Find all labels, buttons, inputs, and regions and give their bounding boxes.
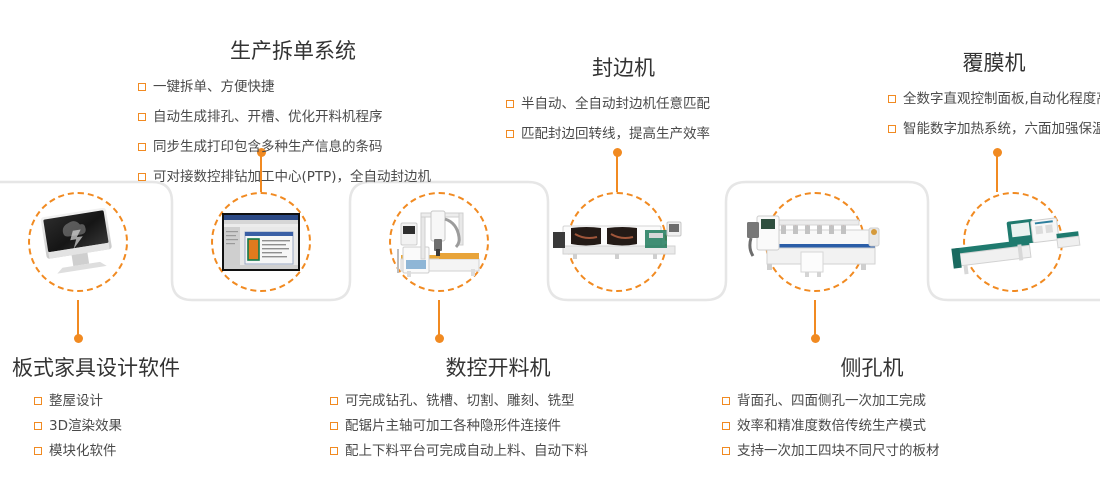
node-dismantle[interactable] (211, 192, 311, 292)
feature-item: 智能数字加热系统，六面加强保温 (888, 114, 1100, 144)
feature-list-edgebander: 半自动、全自动封边机任意匹配 匹配封边回转线，提高生产效率 (506, 89, 741, 149)
infographic-canvas: 生产拆单系统 一键拆单、方便快捷 自动生成排孔、开槽、优化开料机程序 同步生成打… (0, 0, 1100, 495)
feature-item: 可对接数控排钻加工中心(PTP)，全自动封边机 (138, 162, 448, 192)
feature-item: 模块化软件 (34, 439, 180, 464)
section-dismantle: 生产拆单系统 一键拆单、方便快捷 自动生成排孔、开槽、优化开料机程序 同步生成打… (138, 38, 448, 192)
node-edgebander[interactable] (567, 192, 667, 292)
section-title-dismantle: 生产拆单系统 (138, 38, 448, 64)
feature-list-design-software: 整屋设计 3D渲染效果 模块化软件 (12, 389, 180, 464)
section-title-laminator: 覆膜机 (888, 50, 1100, 76)
stem-dot-design-software (74, 334, 83, 343)
dashed-ring (211, 192, 311, 292)
feature-item: 自动生成排孔、开槽、优化开料机程序 (138, 102, 448, 132)
feature-item: 3D渲染效果 (34, 414, 180, 439)
checkbox-icon (138, 143, 146, 151)
stem-dot-side-driller (811, 334, 820, 343)
feature-item: 配锯片主轴可加工各种隐形件连接件 (330, 414, 666, 439)
feature-list-cnc-cutter: 可完成钻孔、铣槽、切割、雕刻、铣型 配锯片主轴可加工各种隐形件连接件 配上下料平… (330, 389, 666, 464)
feature-item: 半自动、全自动封边机任意匹配 (506, 89, 741, 119)
checkbox-icon (506, 130, 514, 138)
node-side-driller[interactable] (765, 192, 865, 292)
node-laminator[interactable] (963, 192, 1063, 292)
section-laminator: 覆膜机 全数字直观控制面板,自动化程度高 智能数字加热系统，六面加强保温 (888, 50, 1100, 144)
feature-item: 匹配封边回转线，提高生产效率 (506, 119, 741, 149)
section-title-side-driller: 侧孔机 (722, 355, 1022, 381)
dashed-ring (963, 192, 1063, 292)
checkbox-icon (722, 447, 730, 455)
stem-dot-laminator (993, 148, 1002, 157)
section-edgebander: 封边机 半自动、全自动封边机任意匹配 匹配封边回转线，提高生产效率 (506, 55, 741, 149)
dashed-ring (28, 192, 128, 292)
section-cnc-cutter: 数控开料机 可完成钻孔、铣槽、切割、雕刻、铣型 配锯片主轴可加工各种隐形件连接件… (330, 355, 666, 464)
checkbox-icon (330, 422, 338, 430)
checkbox-icon (34, 422, 42, 430)
checkbox-icon (888, 95, 896, 103)
section-title-edgebander: 封边机 (506, 55, 741, 81)
checkbox-icon (506, 100, 514, 108)
checkbox-icon (138, 113, 146, 121)
checkbox-icon (34, 397, 42, 405)
feature-item: 一键拆单、方便快捷 (138, 72, 448, 102)
section-title-cnc-cutter: 数控开料机 (330, 355, 666, 381)
feature-item: 配上下料平台可完成自动上料、自动下料 (330, 439, 666, 464)
feature-item: 同步生成打印包含多种生产信息的条码 (138, 132, 448, 162)
checkbox-icon (138, 83, 146, 91)
stem-laminator (996, 152, 998, 192)
checkbox-icon (722, 397, 730, 405)
feature-item: 全数字直观控制面板,自动化程度高 (888, 84, 1100, 114)
feature-item: 整屋设计 (34, 389, 180, 414)
stem-dot-edgebander (613, 148, 622, 157)
stem-design-software (77, 300, 79, 338)
feature-item: 可完成钻孔、铣槽、切割、雕刻、铣型 (330, 389, 666, 414)
section-side-driller: 侧孔机 背面孔、四面侧孔一次加工完成 效率和精准度数倍传统生产模式 支持一次加工… (722, 355, 1022, 464)
node-design-software[interactable] (28, 192, 128, 292)
checkbox-icon (722, 422, 730, 430)
stem-side-driller (814, 300, 816, 338)
feature-list-dismantle: 一键拆单、方便快捷 自动生成排孔、开槽、优化开料机程序 同步生成打印包含多种生产… (138, 72, 448, 192)
section-design-software: 板式家具设计软件 整屋设计 3D渲染效果 模块化软件 (12, 355, 180, 464)
checkbox-icon (330, 397, 338, 405)
stem-edgebander (616, 152, 618, 192)
checkbox-icon (34, 447, 42, 455)
checkbox-icon (888, 125, 896, 133)
node-cnc-cutter[interactable] (389, 192, 489, 292)
checkbox-icon (138, 173, 146, 181)
checkbox-icon (330, 447, 338, 455)
feature-item: 效率和精准度数倍传统生产模式 (722, 414, 1022, 439)
feature-list-side-driller: 背面孔、四面侧孔一次加工完成 效率和精准度数倍传统生产模式 支持一次加工四块不同… (722, 389, 1022, 464)
feature-item: 背面孔、四面侧孔一次加工完成 (722, 389, 1022, 414)
dashed-ring (389, 192, 489, 292)
section-title-design-software: 板式家具设计软件 (12, 355, 180, 381)
dashed-ring (765, 192, 865, 292)
stem-cnc-cutter (438, 300, 440, 338)
dashed-ring (567, 192, 667, 292)
feature-item: 支持一次加工四块不同尺寸的板材 (722, 439, 1022, 464)
feature-list-laminator: 全数字直观控制面板,自动化程度高 智能数字加热系统，六面加强保温 (888, 84, 1100, 144)
stem-dot-cnc-cutter (435, 334, 444, 343)
